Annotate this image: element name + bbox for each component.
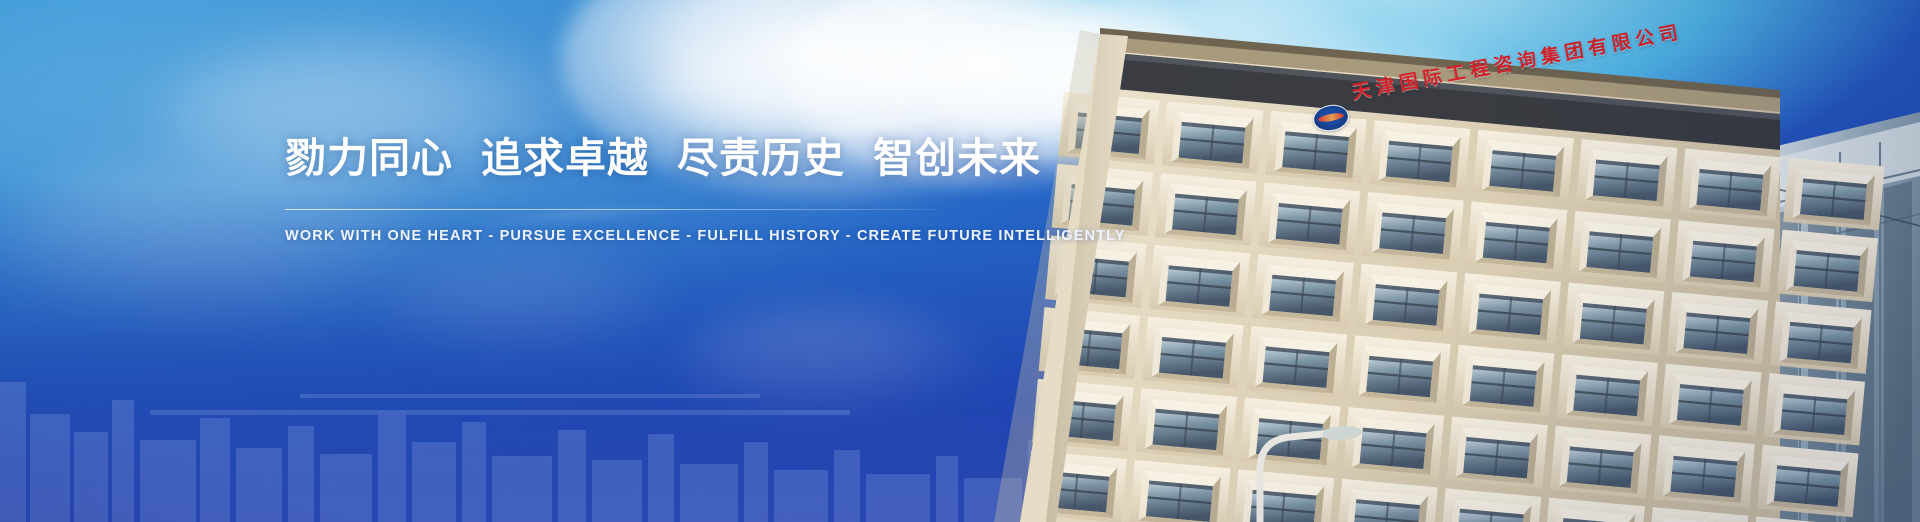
headline-segment-4: 智创未来 xyxy=(873,134,1041,182)
banner-copy: 勠力同心追求卓越尽责历史智创未来 WORK WITH ONE HEART - P… xyxy=(285,134,985,244)
headline-segment-2: 追求卓越 xyxy=(481,134,649,182)
skyline-sheen xyxy=(0,402,1280,522)
headline-divider xyxy=(285,209,935,210)
hero-banner: 勠力同心追求卓越尽责历史智创未来 WORK WITH ONE HEART - P… xyxy=(0,0,1920,522)
banner-headline: 勠力同心追求卓越尽责历史智创未来 xyxy=(285,134,985,182)
banner-subtitle: WORK WITH ONE HEART - PURSUE EXCELLENCE … xyxy=(285,228,985,244)
headline-segment-3: 尽责历史 xyxy=(677,134,845,182)
headline-segment-1: 勠力同心 xyxy=(285,134,453,182)
